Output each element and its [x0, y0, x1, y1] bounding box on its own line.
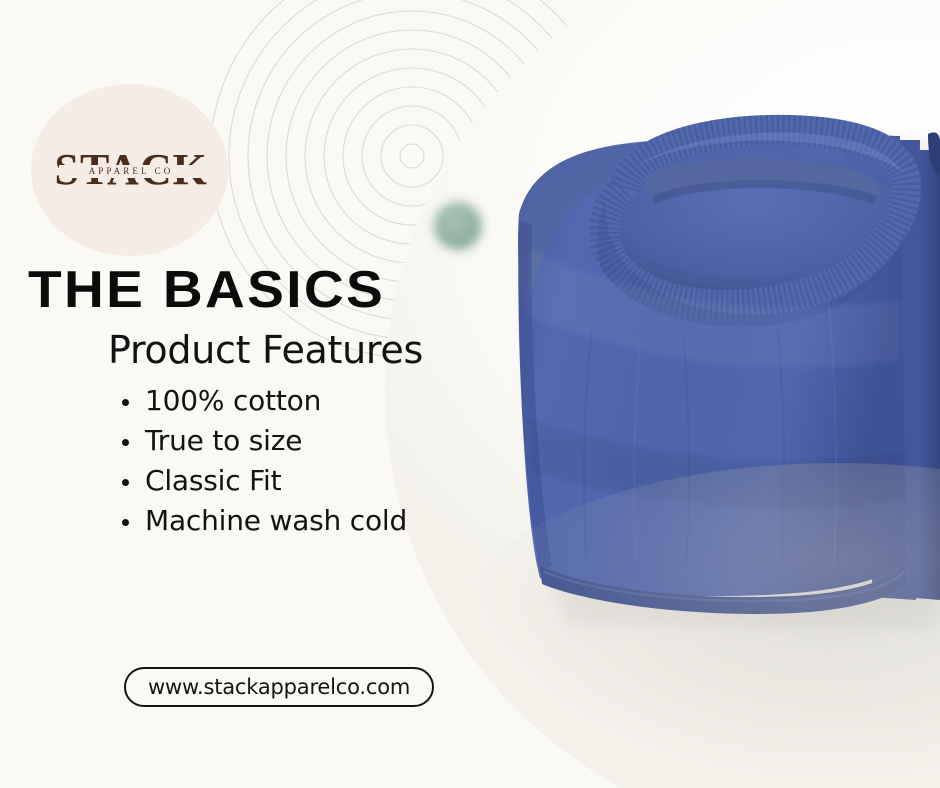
list-item: 100% cotton	[116, 381, 407, 421]
logo-tagline: APPAREL CO	[55, 164, 205, 178]
list-item: Machine wash cold	[116, 501, 407, 541]
page-title: THE BASICS	[28, 262, 385, 318]
website-url-pill[interactable]: www.stackapparelco.com	[124, 667, 434, 707]
sage-accent-dot	[434, 202, 482, 250]
product-features-list: 100% cotton True to size Classic Fit Mac…	[116, 381, 407, 541]
section-subtitle: Product Features	[108, 327, 423, 373]
list-item: True to size	[116, 421, 407, 461]
folded-tshirt-photo	[385, 0, 940, 788]
brand-logo-badge[interactable]: STACK APPAREL CO	[31, 84, 228, 256]
product-feature-poster: STACK APPAREL CO THE BASICS Product Feat…	[0, 0, 940, 788]
list-item: Classic Fit	[116, 461, 407, 501]
website-url-text: www.stackapparelco.com	[148, 677, 410, 698]
logo-lockup: STACK APPAREL CO	[55, 143, 205, 197]
product-photo-circle	[385, 0, 940, 788]
